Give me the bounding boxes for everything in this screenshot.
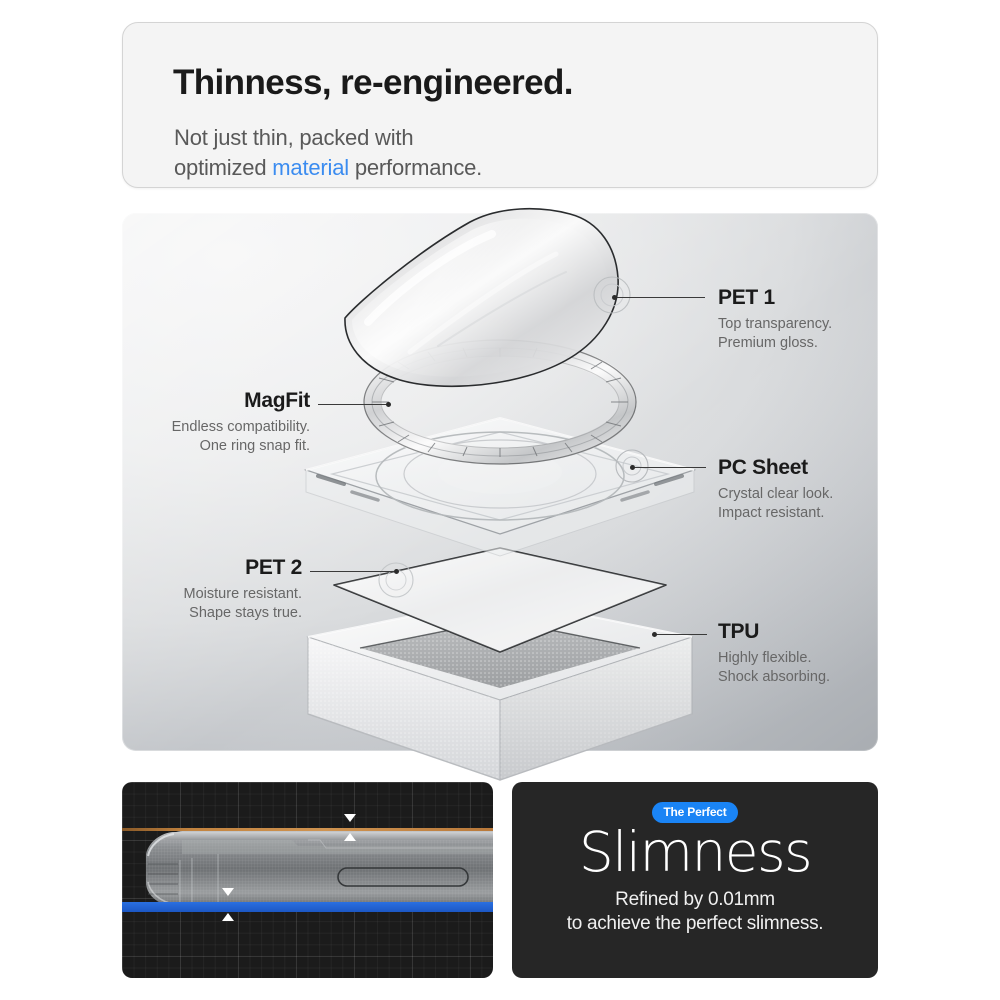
leader-line-pet1 bbox=[615, 297, 705, 298]
leader-dot-pet1 bbox=[612, 295, 617, 300]
label-tpu-desc-line2: Shock absorbing. bbox=[718, 669, 830, 685]
label-pet2: PET 2 Moisture resistant. Shape stays tr… bbox=[0, 556, 302, 624]
leader-dot-pet2 bbox=[394, 569, 399, 574]
marker-bottom-up-triangle bbox=[222, 913, 234, 921]
label-magfit-desc: Endless compatibility. One ring snap fit… bbox=[0, 418, 310, 457]
header-card: Thinness, re-engineered. Not just thin, … bbox=[122, 22, 878, 188]
bottom-accent-line bbox=[122, 902, 493, 912]
label-magfit-title: MagFit bbox=[0, 389, 310, 413]
leader-line-pcsheet bbox=[634, 467, 706, 468]
label-pcsheet-desc-line1: Crystal clear look. bbox=[718, 486, 833, 502]
subtitle-line-2-suffix: performance. bbox=[349, 155, 482, 180]
leader-line-tpu bbox=[655, 634, 707, 635]
label-tpu-desc-line1: Highly flexible. bbox=[718, 650, 812, 666]
marker-top-down-triangle bbox=[344, 814, 356, 822]
leader-line-pet2 bbox=[310, 571, 398, 572]
slimness-subtitle-line2: to achieve the perfect slimness. bbox=[567, 913, 824, 934]
case-side-profile-illustration bbox=[122, 782, 493, 978]
label-pcsheet: PC Sheet Crystal clear look. Impact resi… bbox=[718, 456, 833, 524]
leader-line-magfit bbox=[318, 404, 388, 405]
label-pcsheet-desc-line2: Impact resistant. bbox=[718, 505, 824, 521]
label-pet2-desc: Moisture resistant. Shape stays true. bbox=[0, 585, 302, 624]
page-subtitle: Not just thin, packed with optimized mat… bbox=[174, 123, 482, 184]
slimness-panel: The Perfect Slimness Refined by 0.01mm t… bbox=[512, 782, 878, 978]
label-pet2-desc-line1: Moisture resistant. bbox=[184, 586, 302, 602]
label-pcsheet-title: PC Sheet bbox=[718, 456, 833, 480]
marker-top-up-triangle bbox=[344, 833, 356, 841]
subtitle-line-1: Not just thin, packed with bbox=[174, 125, 413, 150]
slimness-subtitle: Refined by 0.01mm to achieve the perfect… bbox=[512, 888, 878, 937]
label-pet1-desc-line2: Premium gloss. bbox=[718, 335, 818, 351]
label-pet1-desc: Top transparency. Premium gloss. bbox=[718, 315, 832, 354]
slimness-title: Slimness bbox=[512, 824, 878, 882]
label-tpu-title: TPU bbox=[718, 620, 830, 644]
label-magfit: MagFit Endless compatibility. One ring s… bbox=[0, 389, 310, 457]
label-pet1-desc-line1: Top transparency. bbox=[718, 316, 832, 332]
label-magfit-desc-line1: Endless compatibility. bbox=[172, 419, 310, 435]
top-accent-line bbox=[122, 828, 493, 831]
leader-dot-tpu bbox=[652, 632, 657, 637]
label-tpu-desc: Highly flexible. Shock absorbing. bbox=[718, 649, 830, 688]
label-pet2-title: PET 2 bbox=[0, 556, 302, 580]
label-pcsheet-desc: Crystal clear look. Impact resistant. bbox=[718, 485, 833, 524]
subtitle-highlight-material: material bbox=[272, 155, 349, 180]
label-magfit-desc-line2: One ring snap fit. bbox=[200, 438, 310, 454]
label-pet1: PET 1 Top transparency. Premium gloss. bbox=[718, 286, 832, 354]
leader-dot-magfit bbox=[386, 402, 391, 407]
subtitle-line-2-prefix: optimized bbox=[174, 155, 272, 180]
marker-bottom-down-triangle bbox=[222, 888, 234, 896]
label-pet1-title: PET 1 bbox=[718, 286, 832, 310]
label-pet2-desc-line2: Shape stays true. bbox=[189, 605, 302, 621]
leader-dot-pcsheet bbox=[630, 465, 635, 470]
slimness-subtitle-line1: Refined by 0.01mm bbox=[615, 889, 775, 910]
label-tpu: TPU Highly flexible. Shock absorbing. bbox=[718, 620, 830, 688]
page-title: Thinness, re-engineered. bbox=[173, 63, 573, 103]
side-profile-measurement-panel bbox=[122, 782, 493, 978]
